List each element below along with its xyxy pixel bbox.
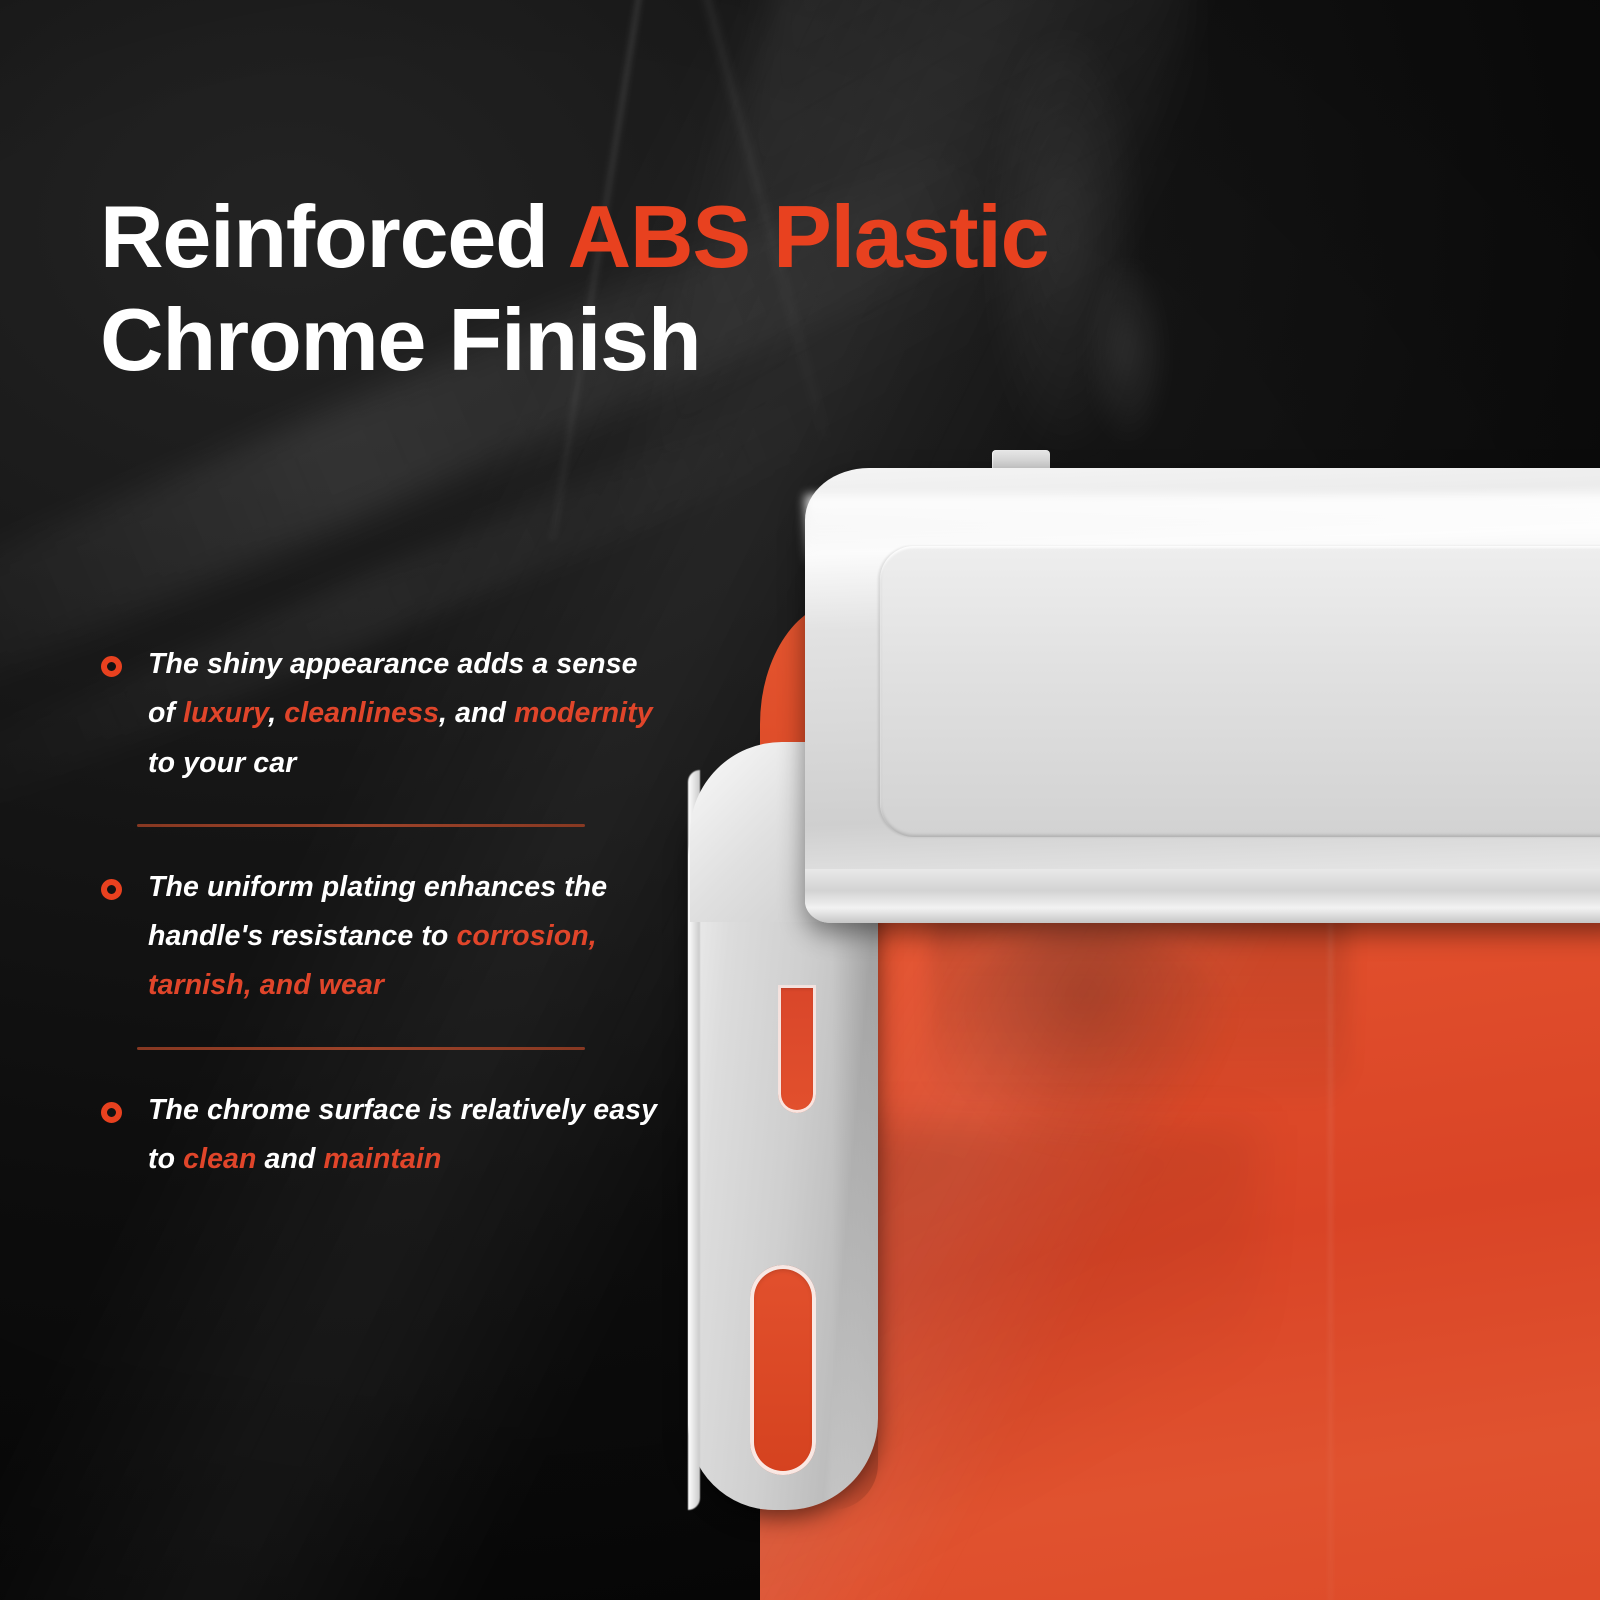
chrome-bar-inset-panel bbox=[880, 546, 1600, 837]
highlighted-keyword: clean bbox=[183, 1143, 256, 1175]
list-item: The chrome surface is relatively easy to… bbox=[100, 1086, 660, 1185]
chrome-bar-bottom-lip bbox=[805, 869, 1600, 923]
headline-line2: Chrome Finish bbox=[100, 289, 1250, 392]
bullet-text: The chrome surface is relatively easy to… bbox=[148, 1086, 660, 1185]
bullet-text: The uniform plating enhances the handle'… bbox=[148, 863, 660, 1011]
headline-line1-accent: ABS Plastic bbox=[568, 187, 1049, 286]
bracket-oval-slot bbox=[750, 1265, 816, 1475]
highlighted-keyword: cleanliness bbox=[284, 697, 439, 729]
bullet-text-segment: and bbox=[257, 1143, 324, 1175]
ring-bullet-icon bbox=[101, 656, 122, 677]
bullet-text: The shiny appearance adds a sense of lux… bbox=[148, 640, 660, 788]
highlighted-keyword: luxury bbox=[183, 697, 268, 729]
bullet-divider bbox=[137, 824, 585, 827]
bullet-divider bbox=[137, 1047, 585, 1050]
bracket-top-slot bbox=[778, 985, 816, 1113]
list-item: The shiny appearance adds a sense of lux… bbox=[100, 640, 660, 788]
headline-line1-plain: Reinforced bbox=[100, 187, 568, 286]
feature-bullet-list: The shiny appearance adds a sense of lux… bbox=[100, 640, 660, 1184]
chrome-handle-bar bbox=[805, 468, 1600, 923]
bullet-text-segment: to your car bbox=[148, 747, 296, 779]
highlighted-keyword: maintain bbox=[324, 1143, 442, 1175]
page-title: Reinforced ABS Plastic Chrome Finish bbox=[100, 186, 1250, 392]
ring-bullet-icon bbox=[101, 1102, 122, 1123]
bullet-text-segment: , bbox=[268, 697, 284, 729]
bullet-text-segment: , and bbox=[439, 697, 514, 729]
ring-bullet-icon bbox=[101, 879, 122, 900]
infographic-canvas: Reinforced ABS Plastic Chrome Finish The… bbox=[0, 0, 1600, 1600]
highlighted-keyword: modernity bbox=[514, 697, 653, 729]
list-item: The uniform plating enhances the handle'… bbox=[100, 863, 660, 1011]
